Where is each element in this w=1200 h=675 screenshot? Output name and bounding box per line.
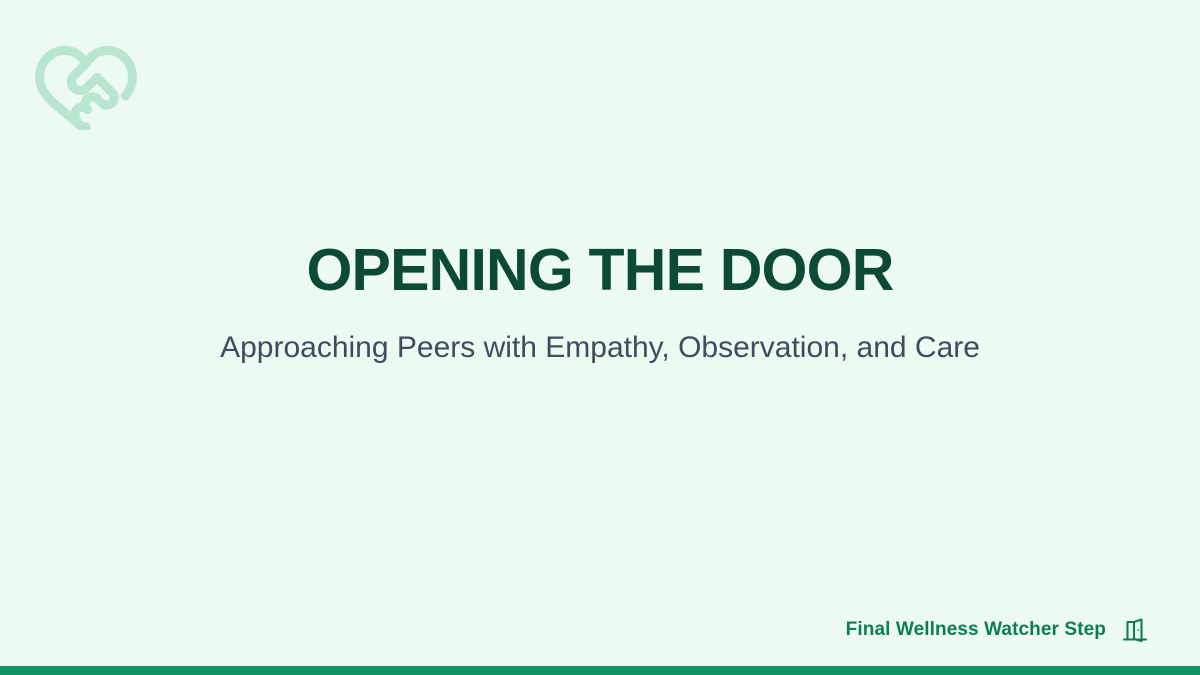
footer-badge: Final Wellness Watcher Step xyxy=(846,615,1150,645)
title-block: OPENING THE DOOR Approaching Peers with … xyxy=(0,238,1200,372)
footer-label: Final Wellness Watcher Step xyxy=(846,619,1106,641)
title-slide: OPENING THE DOOR Approaching Peers with … xyxy=(0,0,1200,675)
slide-subtitle: Approaching Peers with Empathy, Observat… xyxy=(220,324,980,372)
bottom-accent-bar xyxy=(0,666,1200,675)
open-door-icon xyxy=(1120,615,1150,645)
slide-title: OPENING THE DOOR xyxy=(110,238,1090,302)
heart-handshake-icon xyxy=(34,42,138,130)
